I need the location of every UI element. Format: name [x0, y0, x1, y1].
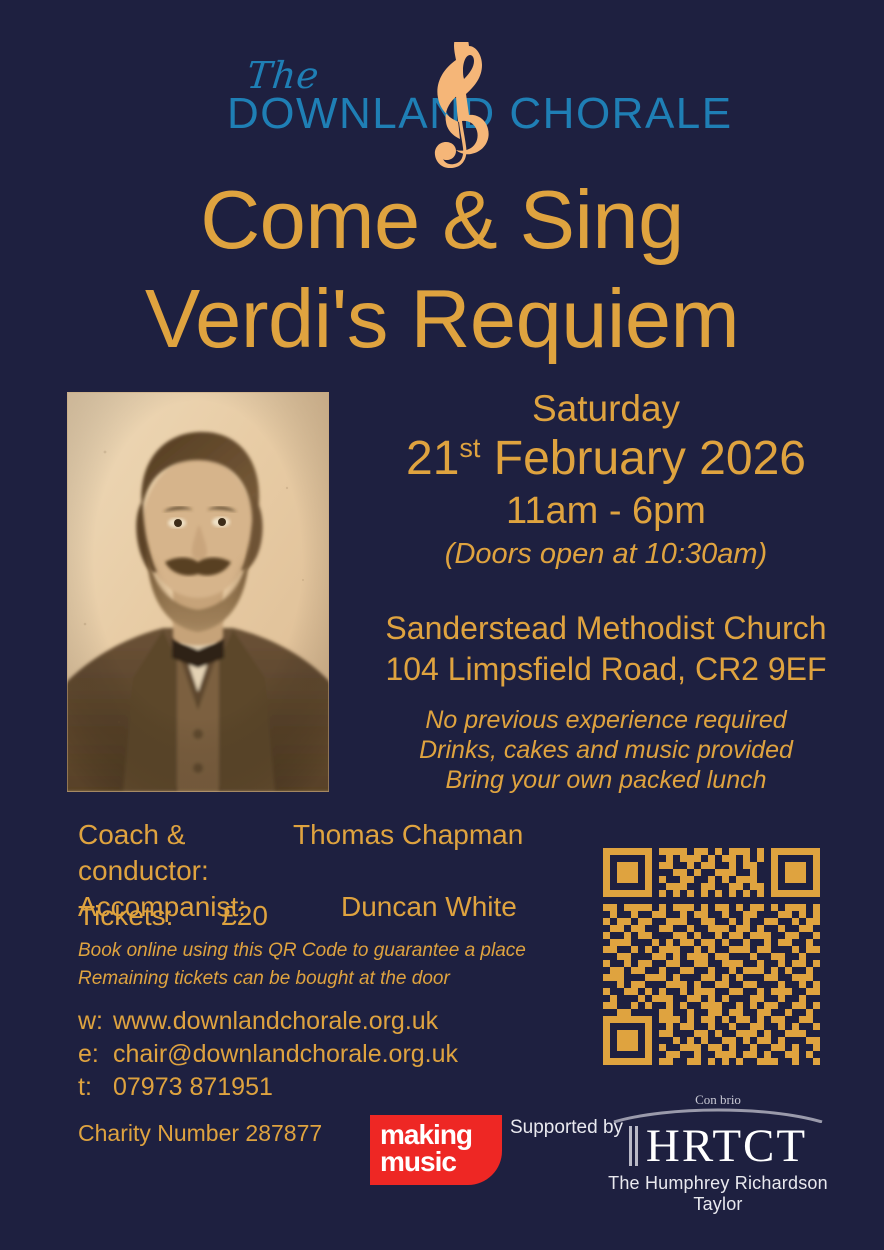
- venue-name: Sanderstead Methodist Church: [356, 608, 856, 649]
- credit-value-conductor: Thomas Chapman: [293, 817, 598, 889]
- making-music-logo: making music: [370, 1115, 502, 1185]
- contact-key-website: w:: [78, 1005, 113, 1038]
- title-line-2: Verdi's Requiem: [0, 269, 884, 368]
- title-line-1: Come & Sing: [0, 170, 884, 269]
- credit-label-conductor: Coach & conductor:: [78, 817, 293, 889]
- chorale-logo: The DOWNLAND CHORALE: [0, 46, 884, 164]
- portrait-image: [67, 392, 329, 792]
- contact-row-website[interactable]: w: www.downlandchorale.org.uk: [78, 1005, 598, 1038]
- hrtct-bars-icon: [629, 1126, 638, 1166]
- contact-value-phone[interactable]: 07973 871951: [113, 1071, 598, 1104]
- event-day: Saturday: [356, 386, 856, 431]
- tickets-label: Tickets:: [78, 900, 173, 931]
- event-time: 11am - 6pm: [356, 487, 856, 535]
- note-1: No previous experience required: [356, 705, 856, 735]
- event-details: Saturday 21st February 2026 11am - 6pm (…: [356, 386, 856, 573]
- contact-row-email[interactable]: e: chair@downlandchorale.org.uk: [78, 1038, 598, 1071]
- qr-code-icon[interactable]: [596, 841, 827, 1072]
- page-title: Come & Sing Verdi's Requiem: [0, 170, 884, 368]
- contact-row-phone[interactable]: t: 07973 871951: [78, 1071, 598, 1104]
- contact-block: w: www.downlandchorale.org.uk e: chair@d…: [78, 1005, 598, 1104]
- qr-code-image[interactable]: [596, 841, 827, 1072]
- hrtct-con-brio: Con brio: [588, 1093, 848, 1107]
- contact-key-email: e:: [78, 1038, 113, 1071]
- credit-row-conductor: Coach & conductor: Thomas Chapman: [78, 817, 598, 889]
- tickets-note-1: Book online using this QR Code to guaran…: [78, 938, 618, 963]
- poster-root: The DOWNLAND CHORALE Come & Sing Verdi's…: [0, 0, 884, 1250]
- tickets-price: £20: [221, 897, 268, 935]
- tickets-note-2: Remaining tickets can be bought at the d…: [78, 966, 618, 991]
- contact-value-website[interactable]: www.downlandchorale.org.uk: [113, 1005, 598, 1038]
- verdi-portrait: [67, 392, 329, 792]
- hrtct-wordmark: HRTCT: [588, 1121, 848, 1171]
- event-date-ordinal: st: [459, 433, 480, 463]
- hrtct-subtitle: The Humphrey Richardson Taylor: [588, 1173, 848, 1215]
- note-3: Bring your own packed lunch: [356, 765, 856, 795]
- event-date-rest: February 2026: [480, 432, 806, 485]
- event-date-number: 21: [406, 432, 459, 485]
- contact-key-phone: t:: [78, 1071, 113, 1104]
- event-notes: No previous experience required Drinks, …: [356, 705, 856, 795]
- note-2: Drinks, cakes and music provided: [356, 735, 856, 765]
- event-date: 21st February 2026: [356, 431, 856, 487]
- charity-number: Charity Number 287877: [78, 1120, 322, 1147]
- event-doors: (Doors open at 10:30am): [356, 535, 856, 573]
- venue-address: 104 Limpsfield Road, CR2 9EF: [356, 649, 856, 690]
- contact-value-email[interactable]: chair@downlandchorale.org.uk: [113, 1038, 598, 1071]
- treble-clef-icon: [424, 42, 508, 168]
- tickets-block: Tickets: £20 Book online using this QR C…: [78, 897, 618, 991]
- hrtct-letters: HRTCT: [646, 1121, 807, 1171]
- tickets-heading: Tickets: £20: [78, 897, 618, 935]
- venue-block: Sanderstead Methodist Church 104 Limpsfi…: [356, 608, 856, 690]
- hrtct-logo: Con brio HRTCT The Humphrey Richardson T…: [588, 1093, 848, 1215]
- making-music-line-2: music: [380, 1147, 456, 1177]
